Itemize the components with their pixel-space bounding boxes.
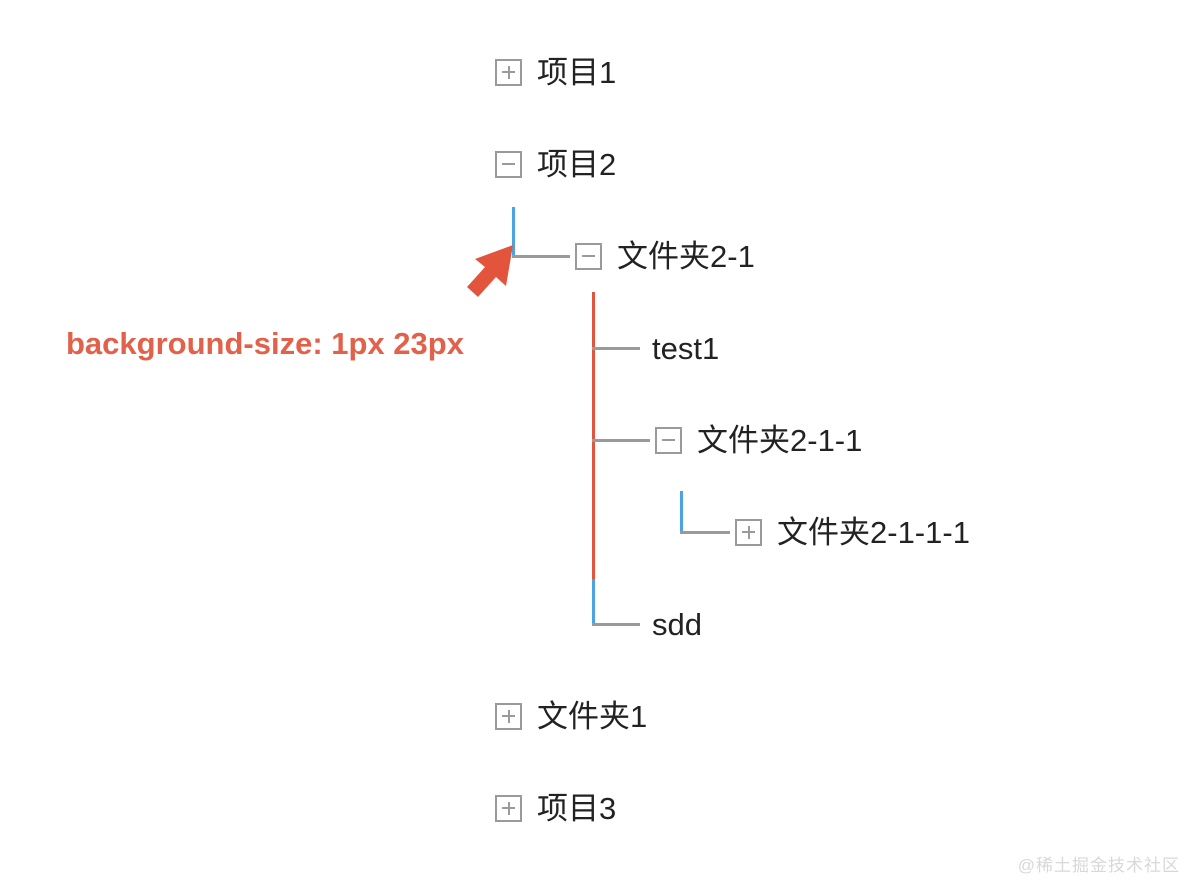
guide-line-level2-vertical-red bbox=[592, 292, 595, 579]
tree-node-sdd[interactable]: sdd bbox=[652, 601, 702, 647]
arrow-cursor-icon bbox=[455, 243, 517, 303]
connector-line-folder2-1-1-1 bbox=[680, 531, 730, 534]
tree-node-test1[interactable]: test1 bbox=[652, 325, 719, 371]
collapse-minus-icon[interactable] bbox=[495, 151, 522, 178]
connector-line-sdd bbox=[592, 623, 640, 626]
guide-line-level3-vertical bbox=[680, 491, 683, 533]
expand-plus-icon[interactable] bbox=[495, 59, 522, 86]
annotation-label: background-size: 1px 23px bbox=[66, 328, 464, 359]
tree-node-label: 文件夹2-1-1-1 bbox=[777, 517, 970, 548]
tree-node-label: 文件夹2-1-1 bbox=[697, 425, 862, 456]
tree-node-label: 项目1 bbox=[537, 57, 616, 88]
collapse-minus-icon[interactable] bbox=[655, 427, 682, 454]
guide-line-level2-vertical-blue bbox=[592, 579, 595, 625]
expand-plus-icon[interactable] bbox=[495, 795, 522, 822]
tree-node-item1[interactable]: 项目1 bbox=[495, 49, 616, 95]
tree-node-folder1[interactable]: 文件夹1 bbox=[495, 693, 647, 739]
tree-node-label: 项目3 bbox=[537, 793, 616, 824]
tree-node-folder2-1-1-1[interactable]: 文件夹2-1-1-1 bbox=[735, 509, 970, 555]
tree-node-label: 文件夹1 bbox=[537, 701, 647, 732]
collapse-minus-icon[interactable] bbox=[575, 243, 602, 270]
tree-node-folder2-1[interactable]: 文件夹2-1 bbox=[575, 233, 755, 279]
tree-node-label: test1 bbox=[652, 333, 719, 364]
watermark-label: @稀土掘金技术社区 bbox=[1018, 851, 1180, 876]
tree-canvas: 项目1 项目2 文件夹2-1 test1 文件夹2-1-1 文件夹2-1-1-1… bbox=[0, 0, 1196, 894]
expand-plus-icon[interactable] bbox=[495, 703, 522, 730]
connector-line-folder2-1 bbox=[512, 255, 570, 258]
tree-node-folder2-1-1[interactable]: 文件夹2-1-1 bbox=[655, 417, 862, 463]
connector-line-folder2-1-1 bbox=[592, 439, 650, 442]
tree-node-label: 项目2 bbox=[537, 149, 616, 180]
tree-node-label: sdd bbox=[652, 609, 702, 640]
tree-node-item2[interactable]: 项目2 bbox=[495, 141, 616, 187]
expand-plus-icon[interactable] bbox=[735, 519, 762, 546]
tree-node-item3[interactable]: 项目3 bbox=[495, 785, 616, 831]
tree-node-label: 文件夹2-1 bbox=[617, 241, 755, 272]
connector-line-test1 bbox=[592, 347, 640, 350]
